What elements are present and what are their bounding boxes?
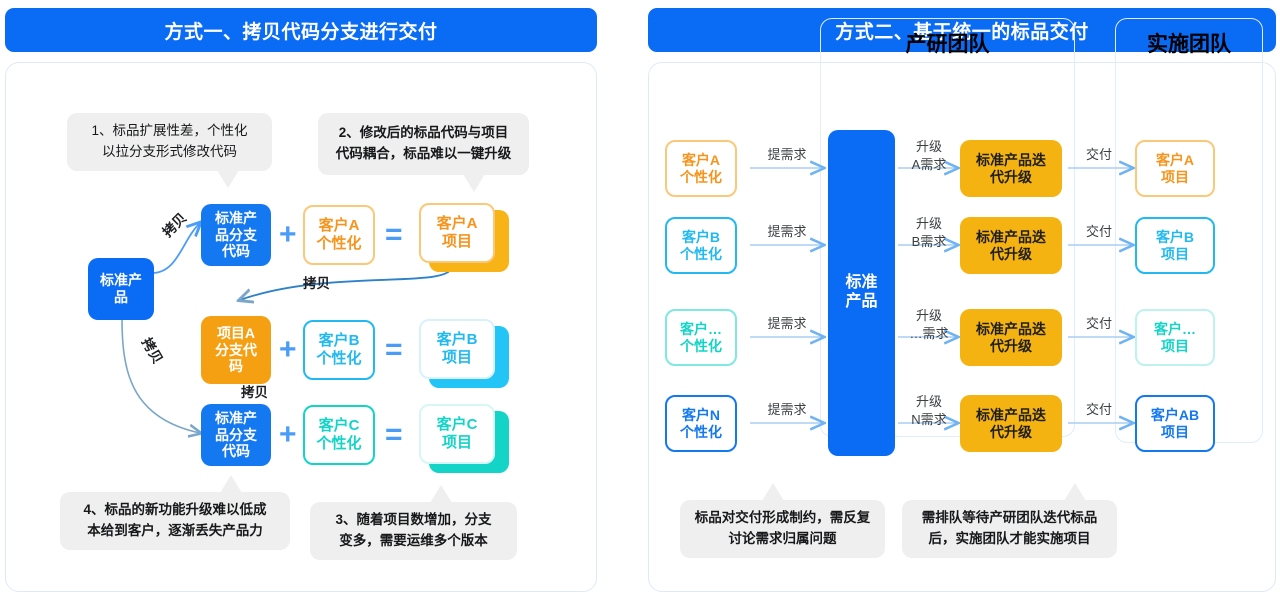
arrow-label-deliver-4: 交付 — [1068, 401, 1130, 419]
arrow-label-deliver-1: 交付 — [1068, 146, 1130, 164]
callout-6-text: 需排队等待产研团队迭代标品 后，实施团队才能实施项目 — [922, 508, 1098, 550]
arrow-label-upgrade-2: 升级 B需求 — [898, 215, 960, 250]
operator-equals-2: = — [385, 335, 403, 365]
copy-label-2: 拷贝 — [303, 272, 330, 292]
box-customer-3[interactable]: 客户… 个性化 — [665, 309, 737, 366]
callout-3: 3、随着项目数增加，分支 变多，需要运维多个版本 — [310, 502, 517, 560]
operator-plus-3: + — [279, 420, 297, 450]
box-branch-code-1[interactable]: 标准产 品分支 代码 — [201, 204, 271, 266]
box-customer-2[interactable]: 客户B 个性化 — [665, 217, 737, 274]
box-project-out-1[interactable]: 客户A 项目 — [1135, 140, 1215, 197]
box-project-out-4[interactable]: 客户AB 项目 — [1135, 395, 1215, 452]
box-standard-product-core[interactable]: 标准 产品 — [828, 130, 895, 456]
box-customization-2[interactable]: 客户B 个性化 — [303, 320, 375, 380]
box-project-3[interactable]: 客户C 项目 — [419, 404, 495, 464]
box-upgrade-1[interactable]: 标准产品迭 代升级 — [960, 140, 1062, 197]
callout-1: 1、标品扩展性差，个性化 以拉分支形式修改代码 — [67, 113, 272, 171]
box-customer-1[interactable]: 客户A 个性化 — [665, 140, 737, 197]
callout-5-text: 标品对交付形成制约，需反复 讨论需求归属问题 — [695, 508, 871, 550]
arrow-label-request-2: 提需求 — [750, 223, 824, 241]
arrow-label-request-4: 提需求 — [750, 401, 824, 419]
box-branch-code-3[interactable]: 标准产 品分支 代码 — [201, 404, 271, 466]
callout-4: 4、标品的新功能升级难以低成 本给到客户，逐渐丢失产品力 — [60, 492, 290, 550]
callout-5: 标品对交付形成制约，需反复 讨论需求归属问题 — [680, 500, 885, 558]
arrow-label-request-3: 提需求 — [750, 315, 824, 333]
arrow-label-deliver-3: 交付 — [1068, 315, 1130, 333]
group-impl-team-title: 实施团队 — [1115, 28, 1263, 58]
callout-2: 2、修改后的标品代码与项目 代码耦合，标品难以一键升级 — [318, 113, 529, 175]
arrow-label-upgrade-1: 升级 A需求 — [898, 138, 960, 173]
arrow-label-request-1: 提需求 — [750, 146, 824, 164]
panel-method-two: 方式二、基于统一的标品交付 产研团队 实施团队 标准 产品 客户A 个性化 提需… — [640, 0, 1280, 601]
box-upgrade-4[interactable]: 标准产品迭 代升级 — [960, 395, 1062, 452]
operator-equals-3: = — [385, 420, 403, 450]
arrow-label-upgrade-4: 升级 N需求 — [898, 393, 960, 428]
operator-plus-1: + — [279, 220, 297, 250]
callout-3-text: 3、随着项目数增加，分支 变多，需要运维多个版本 — [335, 510, 491, 552]
box-project-out-2[interactable]: 客户B 项目 — [1135, 217, 1215, 274]
operator-equals-1: = — [385, 220, 403, 250]
box-project-1[interactable]: 客户A 项目 — [419, 203, 495, 263]
panel-left-title: 方式一、拷贝代码分支进行交付 — [5, 8, 597, 52]
box-upgrade-3[interactable]: 标准产品迭 代升级 — [960, 309, 1062, 366]
box-customization-1[interactable]: 客户A 个性化 — [303, 205, 375, 265]
operator-plus-2: + — [279, 335, 297, 365]
box-standard-product-source[interactable]: 标准产 品 — [88, 258, 154, 320]
callout-4-text: 4、标品的新功能升级难以低成 本给到客户，逐渐丢失产品力 — [83, 500, 266, 542]
box-project-out-3[interactable]: 客户… 项目 — [1135, 309, 1215, 366]
group-rnd-team-title: 产研团队 — [820, 28, 1075, 58]
box-upgrade-2[interactable]: 标准产品迭 代升级 — [960, 217, 1062, 274]
arrow-label-deliver-2: 交付 — [1068, 223, 1130, 241]
callout-6: 需排队等待产研团队迭代标品 后，实施团队才能实施项目 — [902, 500, 1117, 558]
panel-method-one: 方式一、拷贝代码分支进行交付 1、标品扩展性差，个性化 以拉分支形式修改代码 2… — [0, 0, 620, 601]
callout-2-text: 2、修改后的标品代码与项目 代码耦合，标品难以一键升级 — [336, 123, 512, 165]
arrow-label-upgrade-3: 升级 …需求 — [898, 307, 960, 342]
box-customer-4[interactable]: 客户N 个性化 — [665, 395, 737, 452]
copy-label-4: 拷贝 — [241, 381, 268, 401]
box-customization-3[interactable]: 客户C 个性化 — [303, 405, 375, 465]
callout-1-text: 1、标品扩展性差，个性化 以拉分支形式修改代码 — [91, 121, 247, 163]
box-project-2[interactable]: 客户B 项目 — [419, 319, 495, 379]
box-branch-code-2[interactable]: 项目A 分支代 码 — [201, 316, 271, 384]
